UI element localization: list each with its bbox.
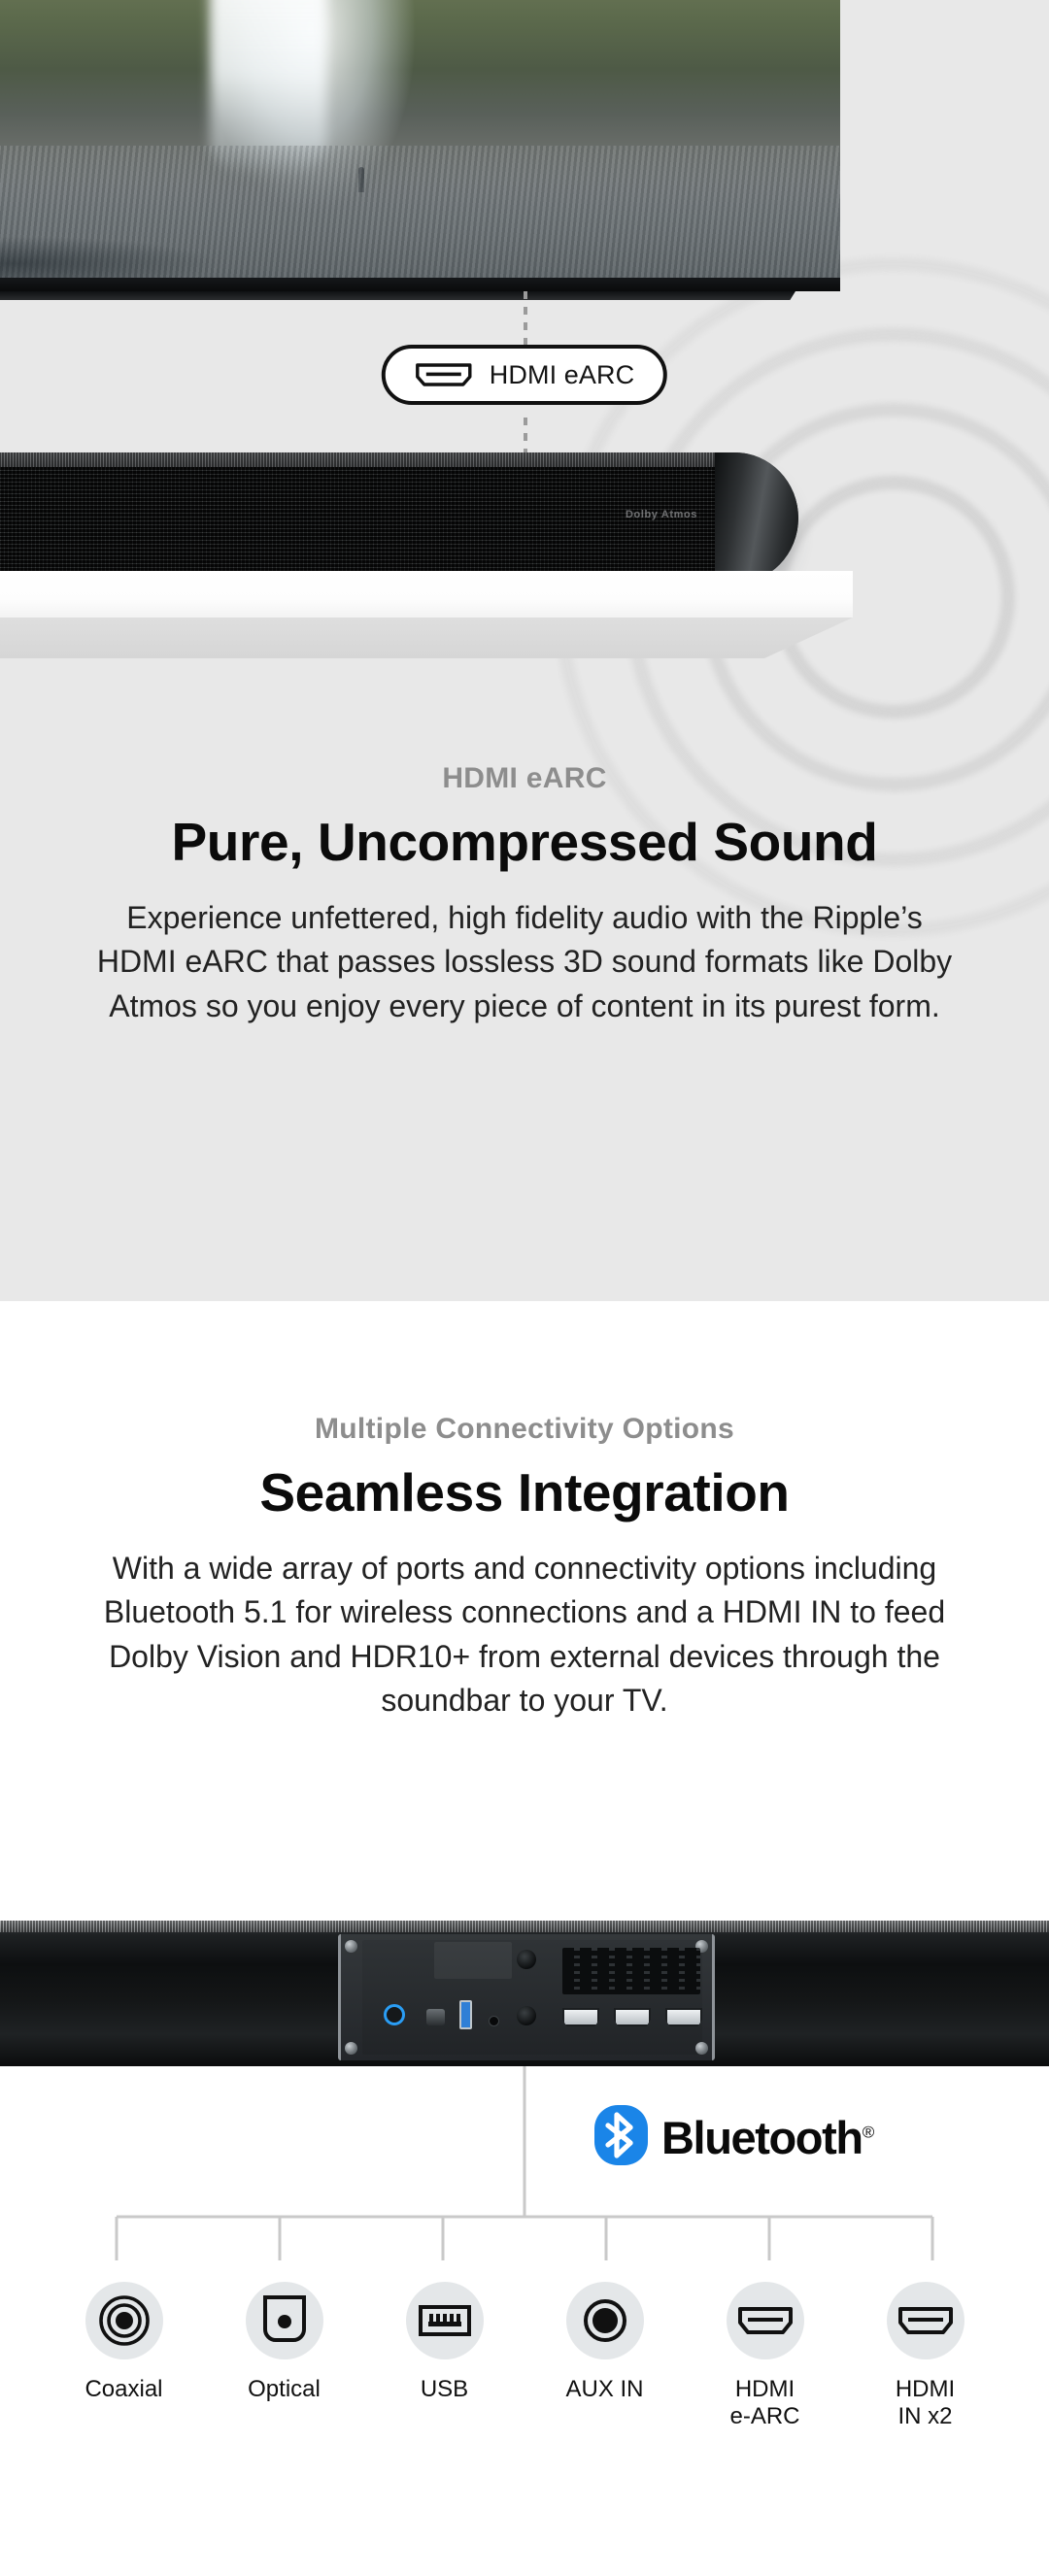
port-label: Optical <box>248 2376 321 2403</box>
tv-screen-waterfall-image <box>0 0 840 280</box>
mount-hole <box>517 2006 536 2025</box>
hero-eyebrow: HDMI eARC <box>0 762 1049 795</box>
rear-usb-port <box>459 2000 472 2029</box>
rear-hdmi-port <box>562 2008 599 2026</box>
television <box>0 0 840 291</box>
soundbar-body: Dolby Atmos <box>0 452 798 584</box>
port-item-hdmi-in: HDMI IN x2 <box>872 2282 979 2430</box>
hero-copy: HDMI eARC Pure, Uncompressed Sound Exper… <box>0 762 1049 1028</box>
rear-hdmi-port <box>665 2008 702 2026</box>
screw-icon <box>695 2042 708 2055</box>
soundbar-rear <box>0 1921 1049 2066</box>
port-label: HDMI e-ARC <box>729 2376 799 2430</box>
person-silhouette <box>358 167 364 192</box>
bluetooth-wordmark: Bluetooth® <box>661 2111 873 2164</box>
dolby-atmos-logo: Dolby Atmos <box>626 509 697 520</box>
usb-port-icon <box>406 2282 484 2359</box>
rear-hdmi-port <box>614 2008 651 2026</box>
port-label: Coaxial <box>85 2376 162 2403</box>
port-label: HDMI IN x2 <box>896 2376 955 2430</box>
rear-vent-grille <box>562 1948 700 1994</box>
registered-mark: ® <box>863 2123 873 2141</box>
hero-headline: Pure, Uncompressed Sound <box>0 811 1049 873</box>
port-item-coaxial: Coaxial <box>71 2282 178 2430</box>
optical-port-icon <box>246 2282 323 2359</box>
port-item-usb: USB <box>391 2282 498 2430</box>
connectivity-eyebrow: Multiple Connectivity Options <box>0 1413 1049 1446</box>
connectivity-headline: Seamless Integration <box>0 1461 1049 1523</box>
connectivity-copy: Multiple Connectivity Options Seamless I… <box>0 1413 1049 1723</box>
soundbar-mesh-grille <box>0 467 746 580</box>
hdmi-port-icon <box>415 362 473 387</box>
screw-icon <box>345 1940 357 1953</box>
hdmi-earc-badge-label: HDMI eARC <box>490 360 634 390</box>
port-label: AUX IN <box>565 2376 643 2403</box>
screw-icon <box>345 2042 357 2055</box>
port-item-aux: AUX IN <box>552 2282 659 2430</box>
bluetooth-logo: Bluetooth® <box>594 2105 873 2170</box>
hero-paragraph: Experience unfettered, high fidelity aud… <box>87 896 962 1028</box>
port-label: USB <box>421 2376 468 2403</box>
coaxial-port-icon <box>85 2282 163 2359</box>
rear-hdmi-ports <box>562 2008 702 2026</box>
hero-section: HDMI eARC Dolby Atmos HDMI eARC Pure, Un… <box>0 0 1049 1301</box>
warning-label <box>434 1942 512 1979</box>
rear-aux-port <box>489 2016 499 2026</box>
aux-port-icon <box>566 2282 644 2359</box>
soundbar-end-cap <box>715 452 798 584</box>
connector-dots-top <box>524 291 527 350</box>
port-item-optical: Optical <box>231 2282 338 2430</box>
hdmi-earc-badge: HDMI eARC <box>382 345 667 405</box>
bluetooth-icon <box>594 2105 648 2170</box>
port-list: Coaxial Optical USB <box>0 2282 1049 2430</box>
soundbar-rear-perforation <box>0 1921 1049 1932</box>
connectivity-paragraph: With a wide array of ports and connectiv… <box>97 1547 952 1723</box>
mount-hole <box>517 1950 536 1969</box>
port-connector-lines <box>0 2066 1049 2260</box>
soundbar-top-grille <box>0 452 740 468</box>
hdmi-earc-port-icon <box>727 2282 804 2359</box>
rear-optical-port <box>426 2009 445 2025</box>
soundbar-front: Dolby Atmos <box>0 452 798 584</box>
shelf <box>0 571 853 618</box>
port-item-hdmi-earc: HDMI e-ARC <box>712 2282 819 2430</box>
rear-coaxial-port <box>384 2004 405 2025</box>
tv-bezel <box>0 278 840 291</box>
hdmi-in-port-icon <box>887 2282 964 2359</box>
rear-port-panel <box>338 1934 715 2060</box>
